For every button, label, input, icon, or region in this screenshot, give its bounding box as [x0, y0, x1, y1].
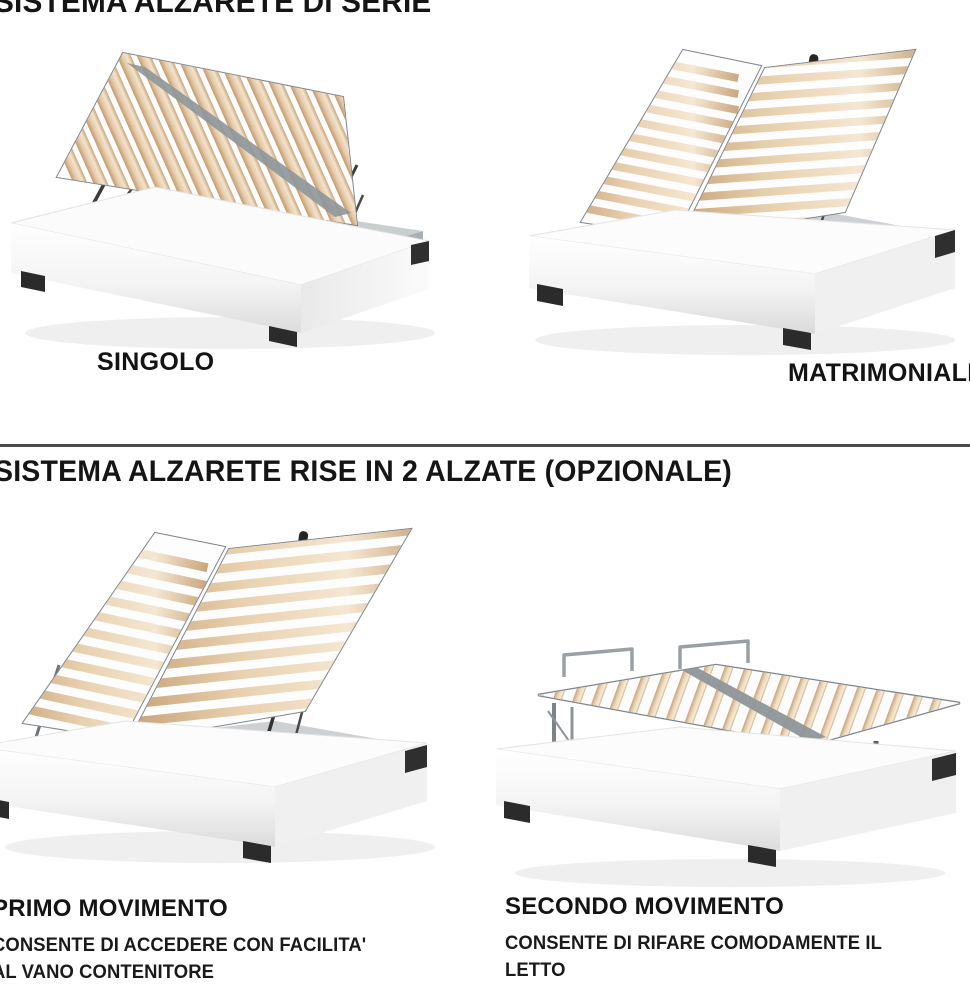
section-heading-serie: SISTEMA ALZARETE DI SERIE — [0, 0, 431, 20]
bed-secondo-illustration — [480, 625, 970, 890]
product-image-primo-movimento — [0, 495, 445, 870]
product-label-singolo: SINGOLO — [97, 348, 214, 377]
product-label-matrimoniale: MATRIMONIALE — [788, 359, 970, 388]
caption-title-primo: PRIMO MOVIMENTO — [0, 895, 378, 923]
floor-shadow — [535, 325, 955, 355]
caption-line-secondo-1: CONSENTE DI RIFARE COMODAMENTE IL — [505, 933, 882, 955]
product-image-secondo-movimento — [480, 625, 970, 890]
section-heading-rise: SISTEMA ALZARETE RISE IN 2 ALZATE (OPZIO… — [0, 455, 732, 489]
product-image-matrimoniale — [515, 40, 970, 360]
bed-singolo-illustration — [5, 45, 455, 355]
caption-primo-movimento: PRIMO MOVIMENTO CONSENTE DI ACCEDERE CON… — [0, 895, 378, 989]
section-divider — [0, 444, 970, 447]
caption-line-secondo-2: LETTO — [505, 960, 882, 982]
caption-line-primo-1: CONSENTE DI ACCEDERE CON FACILITA' — [0, 935, 366, 957]
floor-shadow — [25, 317, 435, 349]
bed-primo-illustration — [0, 495, 445, 870]
bed-foot — [411, 241, 429, 265]
catalog-page: SISTEMA ALZARETE DI SERIE — [0, 0, 970, 970]
product-image-singolo — [5, 45, 455, 355]
bed-matrimoniale-illustration — [515, 40, 970, 360]
floor-shadow — [515, 859, 945, 887]
caption-line-primo-2: AL VANO CONTENITORE — [0, 962, 366, 984]
caption-title-secondo: SECONDO MOVIMENTO — [505, 893, 894, 921]
caption-secondo-movimento: SECONDO MOVIMENTO CONSENTE DI RIFARE COM… — [505, 893, 894, 987]
